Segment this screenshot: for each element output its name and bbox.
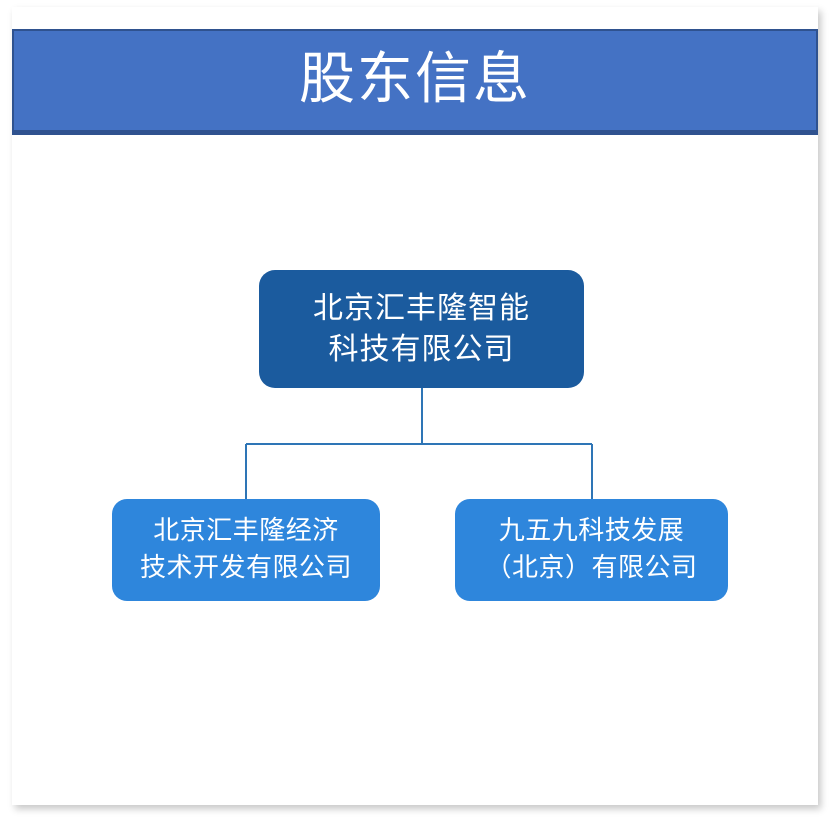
org-node-shareholder-2[interactable]: 九五九科技发展 （北京）有限公司 xyxy=(455,499,728,601)
org-node-root-label: 北京汇丰隆智能 科技有限公司 xyxy=(271,288,572,371)
org-node-shareholder-1[interactable]: 北京汇丰隆经济 技术开发有限公司 xyxy=(112,499,380,601)
chart-card: 股东信息 北京汇丰隆智能 科技有限公司 北京汇丰隆经济 技术开发有限公司 九五九 xyxy=(12,7,818,805)
page-title: 股东信息 xyxy=(299,51,531,107)
header-banner: 股东信息 xyxy=(12,29,818,135)
org-node-shareholder-1-label: 北京汇丰隆经济 技术开发有限公司 xyxy=(124,513,368,587)
org-chart-canvas: 北京汇丰隆智能 科技有限公司 北京汇丰隆经济 技术开发有限公司 九五九科技发展 … xyxy=(12,135,818,805)
shareholder-chart-page: 股东信息 北京汇丰隆智能 科技有限公司 北京汇丰隆经济 技术开发有限公司 九五九 xyxy=(0,0,836,822)
connector-lines xyxy=(12,135,818,805)
org-node-shareholder-2-label: 九五九科技发展 （北京）有限公司 xyxy=(467,513,716,587)
org-node-root[interactable]: 北京汇丰隆智能 科技有限公司 xyxy=(259,270,584,388)
